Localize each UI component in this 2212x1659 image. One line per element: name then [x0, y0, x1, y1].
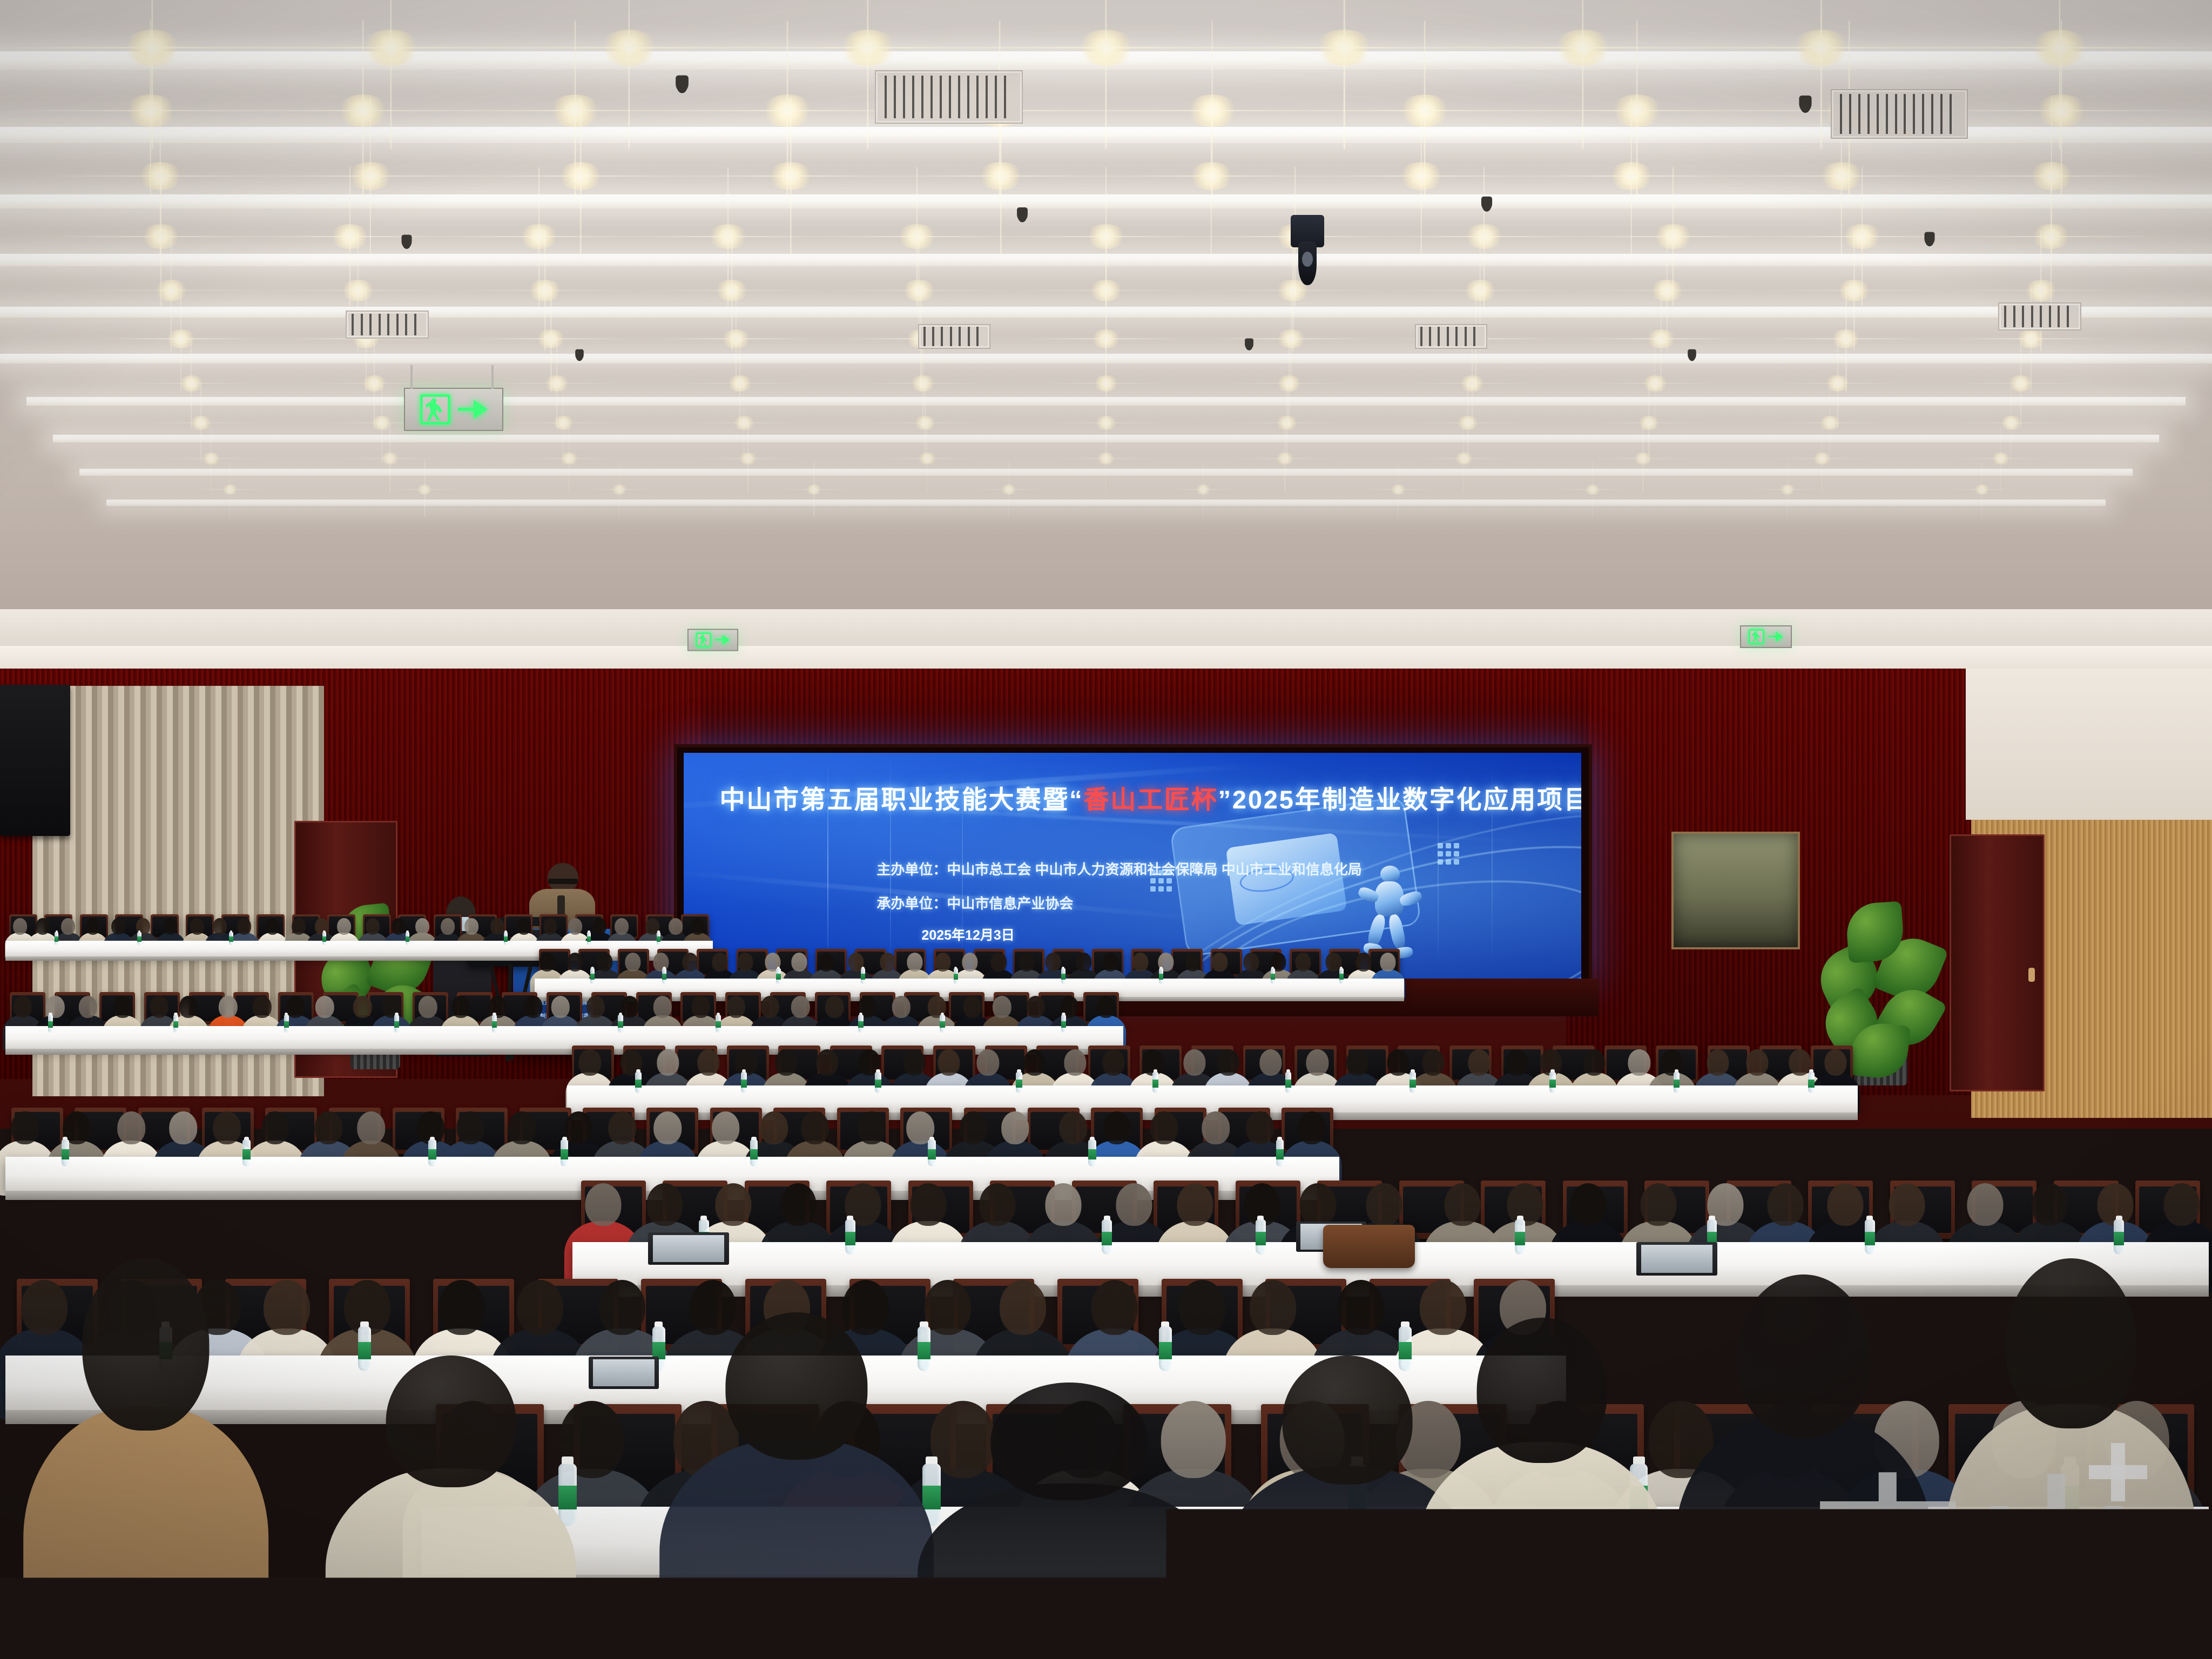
ceiling-downlight [1399, 95, 1451, 127]
person-head [1217, 1049, 1239, 1076]
person-head [991, 953, 1007, 972]
screen-organizer-line: 主办单位：中山市总工会 中山市人力资源和社会保障局 中山市工业和信息化局 [876, 859, 1361, 879]
water-bottle [228, 930, 233, 946]
water-bottle [2113, 1216, 2125, 1255]
person-head [358, 1111, 386, 1144]
person-head [963, 996, 982, 1018]
person-head [337, 918, 351, 935]
person-head [935, 953, 950, 972]
ceiling-downlight [914, 416, 936, 430]
ceiling-downlight [806, 484, 822, 495]
person-head [760, 996, 779, 1018]
person-head [61, 918, 75, 935]
ceiling-downlight [1275, 453, 1294, 464]
ceiling-downlight [611, 484, 628, 495]
ceiling-downlight [1456, 416, 1479, 430]
person-head [1306, 1049, 1328, 1076]
person-head [1295, 953, 1311, 972]
person-head [579, 1049, 601, 1076]
ceiling-downlight [1611, 95, 1663, 127]
water-bottle [939, 1013, 946, 1033]
water-bottle [1151, 1069, 1159, 1093]
laptop [589, 1357, 659, 1389]
person-head [715, 1183, 751, 1226]
person-head [1103, 1111, 1131, 1144]
person-head [517, 1280, 563, 1335]
laptop [1636, 1242, 1717, 1276]
ceiling-downlight [1096, 453, 1116, 464]
person-head [457, 1111, 485, 1144]
water-bottle [1158, 967, 1164, 983]
ceiling-downlight [125, 95, 177, 127]
ceiling-downlight [1315, 30, 1373, 66]
ceiling-downlight [2035, 95, 2087, 127]
water-bottle [1514, 1216, 1526, 1255]
exit-sign-right-wall [1740, 625, 1792, 648]
ceiling-downlight [2000, 416, 2022, 430]
person-head [615, 918, 629, 935]
ceiling-downlight [141, 224, 181, 249]
person-head [253, 996, 271, 1018]
person-head [451, 996, 470, 1018]
water-bottle [656, 930, 661, 946]
ceiling-downlight [166, 329, 196, 348]
person-head [1091, 1280, 1138, 1335]
person-torso [918, 1483, 1221, 1659]
person-head [213, 1111, 241, 1144]
person-head [567, 953, 583, 972]
water-bottle [427, 1137, 437, 1166]
person-head [439, 1280, 485, 1335]
person-head [791, 953, 807, 972]
ceiling-downlight [1812, 453, 1832, 464]
ceiling-downlight [1584, 484, 1601, 495]
person-head [977, 1049, 999, 1076]
smoke-detector [1799, 96, 1811, 112]
person-torso [326, 1468, 576, 1659]
person-head [237, 918, 251, 935]
person-head [1116, 1183, 1152, 1226]
person-head [292, 918, 306, 935]
person-head [179, 996, 197, 1018]
person-head [825, 996, 844, 1018]
water-bottle [1157, 1321, 1174, 1371]
ceiling-downlight [761, 95, 813, 127]
water-bottle [60, 1137, 70, 1166]
person-head [415, 918, 429, 935]
person-head [775, 1049, 797, 1076]
water-bottle [927, 1137, 937, 1166]
conference-hall-photo: /* ---------- CEILING GENERATION (layout… [0, 0, 2212, 1659]
person-head [592, 918, 606, 935]
ceiling-downlight [558, 162, 603, 190]
person-head [219, 996, 237, 1018]
ceiling-downlight [528, 280, 562, 301]
person-head [1640, 1183, 1676, 1226]
smoke-detector [575, 349, 584, 360]
water-bottle [393, 1013, 400, 1033]
person-head [1570, 1183, 1606, 1226]
ceiling-downlight [1819, 162, 1864, 190]
ceiling-downlight [727, 375, 753, 392]
ceiling-downlight [559, 453, 579, 464]
person-head [993, 996, 1011, 1018]
person-head [1102, 1049, 1124, 1076]
water-bottle [322, 930, 327, 946]
person-head [1506, 1049, 1528, 1076]
ceiling-downlight [1463, 280, 1498, 301]
water-bottle [1015, 1069, 1023, 1093]
ceiling-downlight [708, 224, 748, 249]
exit-sign-hanger [491, 365, 494, 389]
water-bottle [1270, 967, 1276, 983]
screen-main-title: 中山市第五届职业技能大赛暨“香山工匠杯”2025年制造业数字化应用项目竞赛 [719, 779, 1581, 816]
person-head [1707, 1049, 1729, 1076]
water-bottle [590, 967, 595, 983]
smoke-detector [1924, 232, 1934, 246]
person-head [2031, 1183, 2067, 1226]
person-head [1422, 1049, 1445, 1076]
hvac-vent [346, 311, 429, 339]
person-head [1889, 1183, 1925, 1226]
speaker-glasses [548, 879, 578, 885]
person-head [517, 918, 531, 935]
exit-sign-hanger [410, 365, 413, 389]
person-head [11, 1111, 39, 1144]
person-head [1059, 1111, 1087, 1144]
person-head [1023, 1049, 1046, 1076]
smoke-detector [676, 75, 689, 92]
ceiling-downlight [1390, 484, 1406, 495]
person-head [1019, 953, 1034, 972]
ceiling-downlight [1399, 162, 1444, 190]
person-head [392, 918, 406, 935]
person-head [315, 996, 334, 1018]
person-head [697, 1049, 719, 1076]
person-head [1283, 1355, 1413, 1485]
person-head [539, 953, 555, 972]
laptop [648, 1232, 729, 1265]
person-head [1000, 1280, 1046, 1335]
person-head [737, 953, 753, 972]
person-head [213, 918, 227, 935]
person-head [1338, 1280, 1384, 1335]
person-head [1179, 1280, 1225, 1335]
person-torso [23, 1406, 268, 1659]
person-head [551, 996, 570, 1018]
person-head [82, 1258, 209, 1431]
water-bottle [1284, 1069, 1292, 1093]
person-head [609, 1111, 637, 1144]
water-bottle [1549, 1069, 1556, 1093]
water-bottle [775, 967, 781, 983]
ceiling-downlight [123, 30, 181, 66]
person-head [585, 1183, 621, 1226]
exit-sign-ceiling [404, 388, 503, 431]
water-bottle [1864, 1216, 1876, 1255]
water-bottle [635, 1069, 642, 1093]
person-head [1185, 953, 1201, 972]
person-head [1132, 953, 1148, 972]
person-head [491, 918, 505, 935]
ceiling-downlight [839, 30, 897, 66]
hvac-vent [1998, 302, 2081, 331]
ptz-camera-icon [1291, 215, 1324, 285]
ceiling-downlight [1637, 416, 1660, 430]
person-head [1746, 1049, 1768, 1076]
person-head [315, 1111, 343, 1144]
watermark: 中山 [1807, 1443, 2153, 1637]
person-torso [1417, 1442, 1667, 1659]
smoke-detector [1688, 349, 1696, 360]
person-head [646, 1183, 683, 1226]
water-bottle [1808, 1069, 1815, 1093]
foreground-person [1426, 1318, 1658, 1659]
ceiling-downlight [2024, 280, 2058, 301]
ceiling-downlight [1650, 280, 1684, 301]
person-head [1827, 1183, 1863, 1226]
person-head [801, 1111, 829, 1144]
water-bottle [874, 1069, 882, 1093]
water-bottle [586, 930, 591, 946]
ceiling-downlight [1077, 30, 1135, 66]
ceiling-downlight [1825, 375, 1851, 392]
water-bottle [953, 967, 959, 983]
smoke-detector [1481, 197, 1492, 211]
person-head [1628, 1049, 1650, 1076]
person-head [960, 1111, 988, 1144]
smoke-detector [401, 235, 412, 248]
ceiling-downlight [600, 30, 658, 66]
ceiling-downlight [552, 416, 575, 430]
foreground-person [929, 1382, 1210, 1659]
ceiling-downlight [1646, 329, 1676, 348]
person-head [13, 918, 27, 935]
person-head [2163, 1183, 2200, 1226]
person-head [264, 1280, 310, 1335]
ceiling-downlight [222, 484, 238, 495]
person-head [858, 1111, 886, 1144]
person-head [543, 918, 557, 935]
person-head [464, 918, 478, 935]
person-head [1183, 1049, 1205, 1076]
ceiling-downlight [330, 224, 370, 249]
ceiling-downlight [536, 329, 566, 348]
ceiling-downlight [2008, 375, 2034, 392]
hvac-vent [918, 324, 990, 349]
ceiling-downlight [348, 162, 393, 190]
water-bottle [241, 1137, 251, 1166]
person-head [1027, 996, 1045, 1018]
person-head [1045, 953, 1061, 972]
water-bottle [172, 1013, 179, 1033]
person-head [1202, 1111, 1230, 1144]
person-head [386, 1355, 516, 1487]
person-head [1356, 953, 1372, 972]
person-head [880, 953, 895, 972]
person-head [892, 996, 910, 1018]
person-head [791, 996, 810, 1018]
person-head [712, 1111, 740, 1144]
ceiling-downlight [544, 375, 570, 392]
hvac-vent [1415, 324, 1487, 349]
person-head [780, 1183, 816, 1226]
ceiling-downlight [902, 280, 936, 301]
person-head [1212, 953, 1228, 972]
ceiling-downlight [1276, 416, 1298, 430]
person-head [36, 918, 50, 935]
person-head [653, 996, 672, 1018]
person-head [150, 996, 168, 1018]
water-bottle [844, 1216, 857, 1255]
ceiling-downlight [1554, 30, 1612, 66]
ceiling-downlight [714, 280, 749, 301]
ceiling-downlight [1186, 95, 1238, 127]
person-torso [659, 1439, 934, 1659]
ceiling-soffit [0, 609, 2212, 647]
person-head [1046, 1183, 1082, 1226]
foreground-person [335, 1355, 567, 1659]
water-bottle [715, 1013, 721, 1033]
ceiling-downlight [738, 453, 758, 464]
person-head [441, 918, 455, 935]
person-head [625, 953, 640, 972]
person-head [1824, 1049, 1846, 1076]
person-head [682, 953, 698, 972]
person-head [725, 1312, 867, 1460]
person-head [1366, 1183, 1402, 1226]
ceiling-downlight [1974, 484, 1990, 495]
person-head [1177, 1183, 1213, 1226]
person-head [669, 918, 683, 935]
person-head [1103, 953, 1118, 972]
person-head [760, 1111, 788, 1144]
person-head [816, 1049, 838, 1076]
ceiling-downlight [341, 280, 375, 301]
ceiling-downlight [1633, 453, 1653, 464]
ceiling-downlight [1195, 484, 1211, 495]
ceiling-downlight [380, 453, 400, 464]
ceiling [0, 0, 2212, 664]
ceiling-downlight [1189, 162, 1234, 190]
person-head [1767, 1183, 1803, 1226]
person-head [1097, 996, 1115, 1018]
ceiling-downlight [918, 453, 937, 464]
person-head [1076, 953, 1091, 972]
ceiling-downlight [768, 162, 813, 190]
ceiling-downlight [733, 416, 756, 430]
ceiling-downlight [1001, 484, 1017, 495]
person-head [1250, 1280, 1296, 1335]
person-head [962, 953, 978, 972]
person-head [524, 996, 542, 1018]
person-head [508, 1111, 536, 1144]
person-head [261, 1111, 289, 1144]
water-bottle [137, 930, 142, 946]
person-head [1244, 953, 1259, 972]
person-head [1380, 953, 1395, 972]
ceiling-downlight [1459, 375, 1485, 392]
person-head [419, 996, 437, 1018]
ceiling-downlight [2031, 30, 2089, 66]
person-head [1001, 1111, 1029, 1144]
person-head [586, 996, 605, 1018]
person-head [1246, 1111, 1274, 1144]
person-head [653, 1111, 682, 1144]
water-bottle [617, 1013, 624, 1033]
person-head [14, 996, 32, 1018]
person-head [1967, 1183, 2004, 1226]
ceiling-light-strip [106, 500, 2106, 506]
person-head [117, 1111, 145, 1144]
person-head [599, 1280, 645, 1335]
hvac-vent [1831, 89, 1968, 139]
person-head [907, 953, 923, 972]
water-bottle [1101, 1216, 1113, 1255]
water-bottle [405, 930, 410, 946]
exit-sign-left-wall [687, 629, 738, 651]
person-head [712, 953, 727, 972]
person-head [691, 918, 705, 935]
wall-speaker [0, 685, 70, 836]
ceiling-downlight [1779, 484, 1796, 495]
water-bottle [860, 967, 866, 983]
water-bottle [1061, 1013, 1067, 1033]
ceiling-downlight [897, 224, 937, 249]
ceiling-downlight [416, 484, 433, 495]
person-head [366, 918, 380, 935]
person-head [190, 918, 204, 935]
water-bottle [662, 967, 667, 983]
soffit-lower-band [0, 646, 2212, 670]
person-head [938, 1049, 960, 1076]
person-head [86, 918, 100, 935]
ceiling-downlight [1991, 453, 2011, 464]
ceiling-downlight [337, 95, 389, 127]
person-head [1737, 1274, 1870, 1438]
ceiling-downlight [1842, 224, 1882, 249]
water-bottle [1255, 1216, 1267, 1255]
water-bottle [1673, 1069, 1681, 1093]
ceiling-downlight [1653, 224, 1693, 249]
person-head [990, 1382, 1148, 1500]
ceiling-downlight [910, 375, 936, 392]
person-head [657, 1049, 679, 1076]
hvac-vent [875, 70, 1023, 124]
person-head [79, 996, 97, 1018]
person-head [979, 1183, 1015, 1226]
person-head [597, 953, 613, 972]
ceiling-downlight [1464, 224, 1504, 249]
water-bottle [47, 1013, 53, 1033]
person-head [1445, 1183, 1481, 1226]
person-head [1064, 1049, 1086, 1076]
water-bottle [749, 1137, 759, 1166]
person-head [266, 918, 280, 935]
person-head [353, 996, 372, 1018]
ceiling-downlight [1792, 30, 1850, 66]
person-head [568, 918, 582, 935]
water-bottle [559, 1137, 569, 1166]
person-head [113, 996, 132, 1018]
person-head [1477, 1318, 1607, 1463]
person-head [727, 996, 745, 1018]
ceiling-downlight [1276, 329, 1306, 348]
person-head [911, 1183, 947, 1226]
foreground-person [32, 1258, 259, 1659]
water-bottle [858, 1013, 864, 1033]
person-head [164, 918, 178, 935]
